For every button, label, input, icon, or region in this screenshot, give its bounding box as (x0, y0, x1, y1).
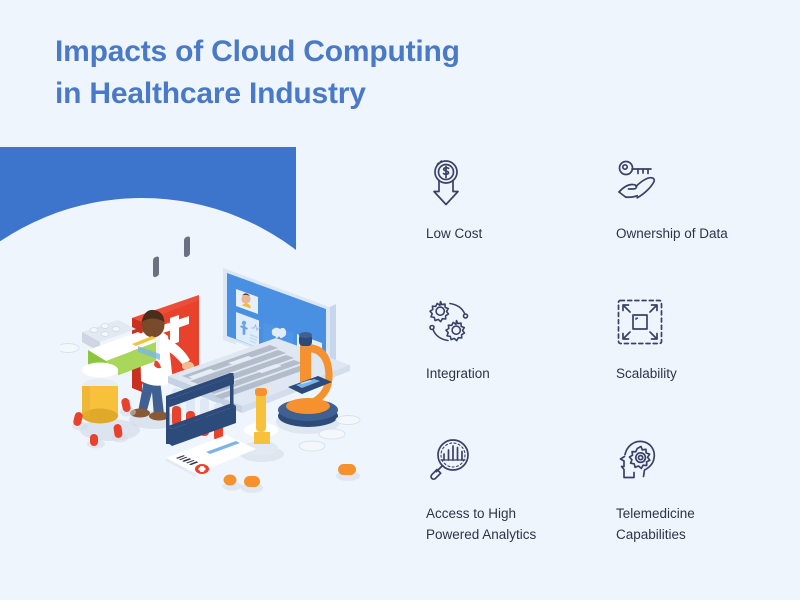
feature-low-cost[interactable]: Low Cost (426, 158, 616, 298)
features-grid: Low Cost Ownership of Data (426, 158, 766, 578)
magnifier-bar-chart-icon (426, 438, 616, 490)
hand-holding-key-icon (616, 158, 766, 210)
feature-integration[interactable]: Integration (426, 298, 616, 438)
pill-bottle (80, 363, 140, 442)
infographic-root: Impacts of Cloud Computing in Healthcare… (0, 0, 800, 600)
expand-arrows-square-icon (616, 298, 766, 350)
feature-label: Ownership of Data (616, 224, 756, 245)
feature-label: Telemedicine Capabilities (616, 504, 756, 546)
feature-telemedicine-capabilities[interactable]: Telemedicine Capabilities (616, 438, 766, 578)
feature-label: Integration (426, 364, 566, 385)
capsules-orange (222, 464, 360, 493)
feature-label: Low Cost (426, 224, 566, 245)
head-gear-icon (616, 438, 766, 490)
artwork-stage (0, 0, 400, 600)
feature-ownership-of-data[interactable]: Ownership of Data (616, 158, 766, 298)
feature-access-to-high-powered-analytics[interactable]: Access to High Powered Analytics (426, 438, 616, 578)
feature-scalability[interactable]: Scalability (616, 298, 766, 438)
two-gears-icon (426, 298, 616, 350)
coin-down-arrow-icon (426, 158, 616, 210)
healthcare-cloud-illustration (60, 230, 400, 530)
feature-label: Scalability (616, 364, 756, 385)
feature-label: Access to High Powered Analytics (426, 504, 566, 546)
